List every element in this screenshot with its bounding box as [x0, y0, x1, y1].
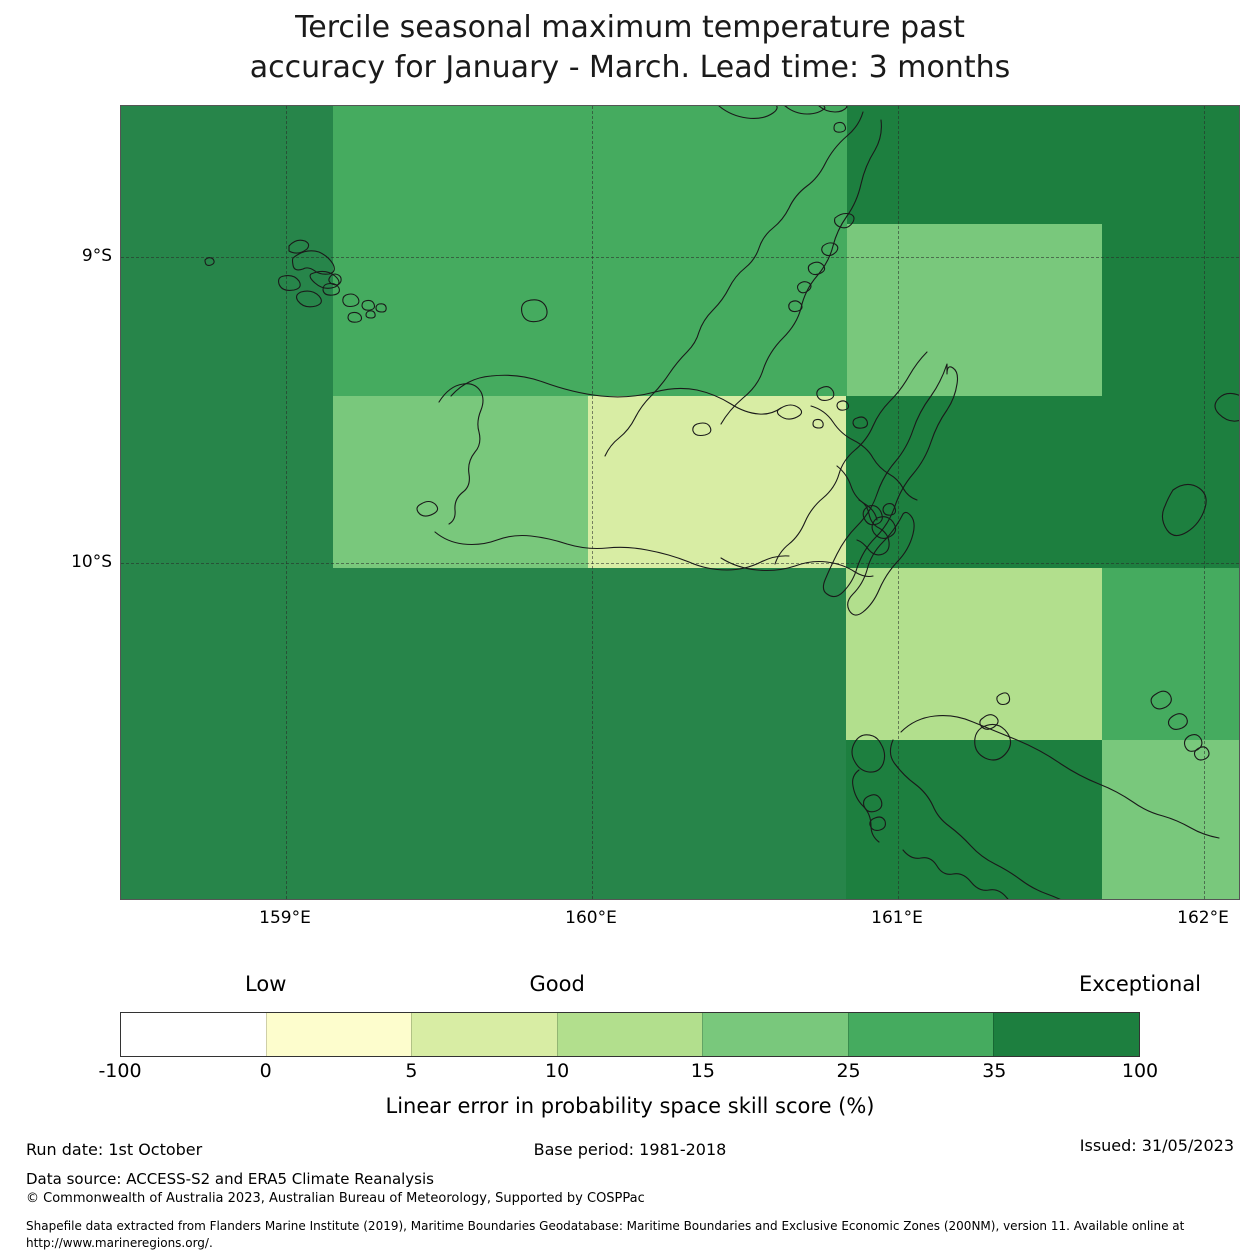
colorbar [120, 1012, 1140, 1057]
longitude-tick-label: 162°E [1177, 908, 1229, 928]
heatmap-cell [847, 106, 1240, 224]
heatmap-cell [121, 106, 333, 396]
base-period-text: Base period: 1981-2018 [0, 1140, 1260, 1159]
colorbar-tick-label: 5 [405, 1060, 417, 1082]
longitude-tick-label: 161°E [871, 908, 923, 928]
heatmap-cell [333, 106, 847, 396]
heatmap-cell [1102, 740, 1240, 900]
colorbar-tick-label: 10 [545, 1060, 569, 1082]
latitude-tick-label: 9°S [82, 246, 112, 266]
footer-primary-row: Run date: 1st October Base period: 1981-… [0, 1140, 1260, 1162]
heatmap-cell [1102, 224, 1240, 396]
heatmap-cell [846, 396, 1240, 568]
heatmap-cell [333, 396, 588, 568]
gridline-vertical [898, 106, 900, 899]
colorbar-segment [993, 1013, 1139, 1056]
colorbar-segment [411, 1013, 557, 1056]
page-title: Tercile seasonal maximum temperature pas… [0, 8, 1260, 88]
colorbar-category-label: Exceptional [1079, 972, 1201, 996]
heatmap-cell [846, 740, 1102, 900]
latitude-tick-label: 10°S [71, 552, 112, 572]
issued-date-text: Issued: 31/05/2023 [1080, 1136, 1234, 1155]
colorbar-tick-label: 25 [836, 1060, 860, 1082]
colorbar-gradient [120, 1012, 1140, 1057]
heatmap-cell [121, 568, 846, 900]
colorbar-tick-label: 0 [260, 1060, 272, 1082]
shapefile-attribution-text: Shapefile data extracted from Flanders M… [26, 1218, 1226, 1252]
gridline-horizontal [121, 257, 1239, 259]
colorbar-tick-label: -100 [98, 1060, 141, 1082]
data-source-text: Data source: ACCESS-S2 and ERA5 Climate … [26, 1170, 434, 1188]
gridline-horizontal [121, 563, 1239, 565]
gridline-vertical [286, 106, 288, 899]
colorbar-category-label: Good [529, 972, 584, 996]
copyright-text: © Commonwealth of Australia 2023, Austra… [26, 1191, 645, 1206]
heatmap-cell [846, 568, 1102, 740]
heatmap-cell [1102, 568, 1240, 740]
colorbar-axis-label: Linear error in probability space skill … [0, 1094, 1260, 1118]
longitude-tick-label: 160°E [565, 908, 617, 928]
colorbar-segment [266, 1013, 412, 1056]
colorbar-tick-label: 15 [691, 1060, 715, 1082]
colorbar-tick-label: 100 [1122, 1060, 1158, 1082]
gridline-vertical [592, 106, 594, 899]
colorbar-segment [557, 1013, 703, 1056]
colorbar-tick-label: 35 [982, 1060, 1006, 1082]
colorbar-segment [702, 1013, 848, 1056]
colorbar-category-label: Low [245, 972, 286, 996]
colorbar-segment [121, 1013, 266, 1056]
heatmap-cell [588, 396, 846, 568]
heatmap-cell [847, 224, 1102, 396]
heatmap-cell [121, 396, 333, 568]
gridline-vertical [1204, 106, 1206, 899]
longitude-tick-label: 159°E [259, 908, 311, 928]
colorbar-segment [848, 1013, 994, 1056]
map-plot-area [120, 105, 1240, 900]
